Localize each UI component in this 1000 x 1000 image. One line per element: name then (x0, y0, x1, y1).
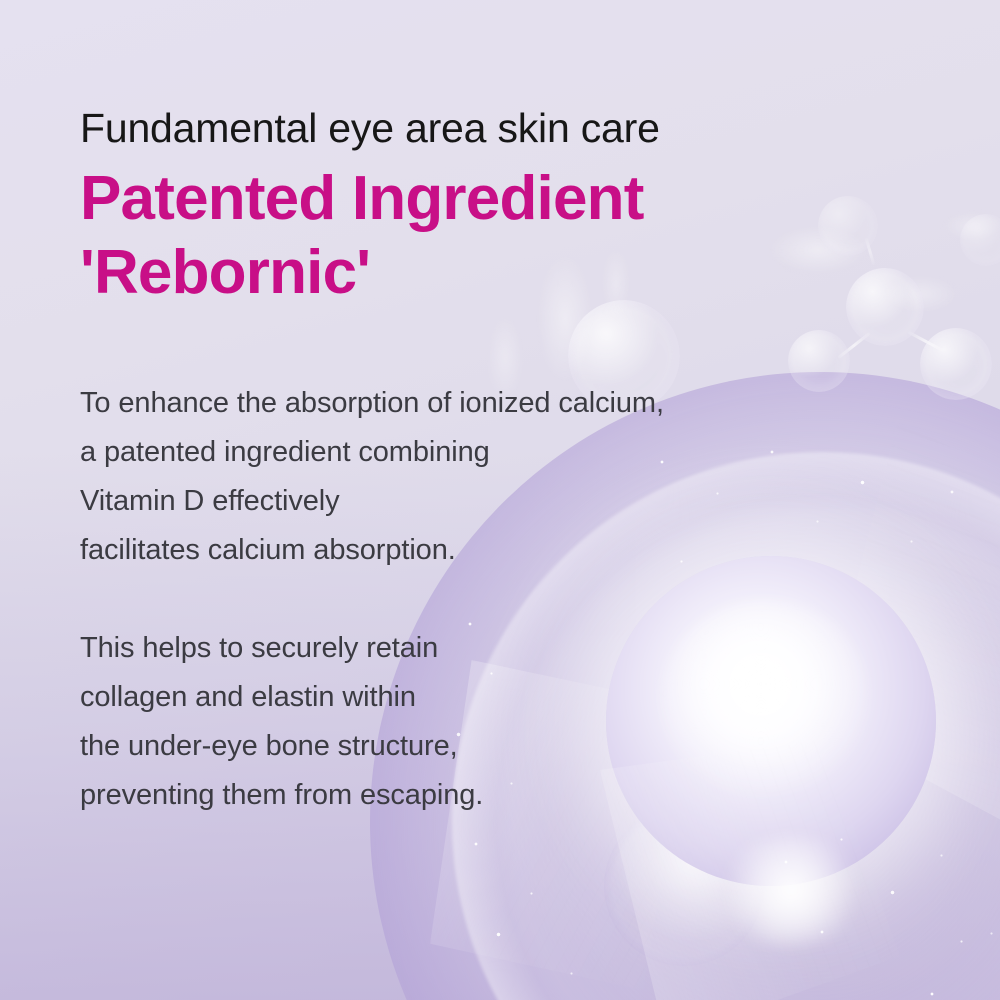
product-promo-poster: Fundamental eye area skin care Patented … (0, 0, 1000, 1000)
paragraph-line: To enhance the absorption of ionized cal… (80, 379, 1000, 428)
eyebrow-heading: Fundamental eye area skin care (80, 108, 1000, 149)
headline-line-2: 'Rebornic' (80, 237, 1000, 309)
paragraph-line: the under-eye bone structure, (80, 722, 1000, 771)
paragraph-line: facilitates calcium absorption. (80, 526, 1000, 575)
headline-line-1: Patented Ingredient (80, 163, 1000, 235)
paragraph-line: Vitamin D effectively (80, 477, 1000, 526)
paragraph-retention: This helps to securely retain collagen a… (80, 624, 1000, 820)
paragraph-line: preventing them from escaping. (80, 771, 1000, 820)
satellite-bubble-icon (604, 806, 764, 966)
paragraph-absorption: To enhance the absorption of ionized cal… (80, 379, 1000, 575)
specular-hotspot (716, 836, 866, 946)
paragraph-line: a patented ingredient combining (80, 428, 1000, 477)
paragraph-line: collagen and elastin within (80, 673, 1000, 722)
sparkle-dust-bottom (760, 820, 1000, 1000)
paragraph-line: This helps to securely retain (80, 624, 1000, 673)
poster-text-content: Fundamental eye area skin care Patented … (0, 0, 1000, 820)
